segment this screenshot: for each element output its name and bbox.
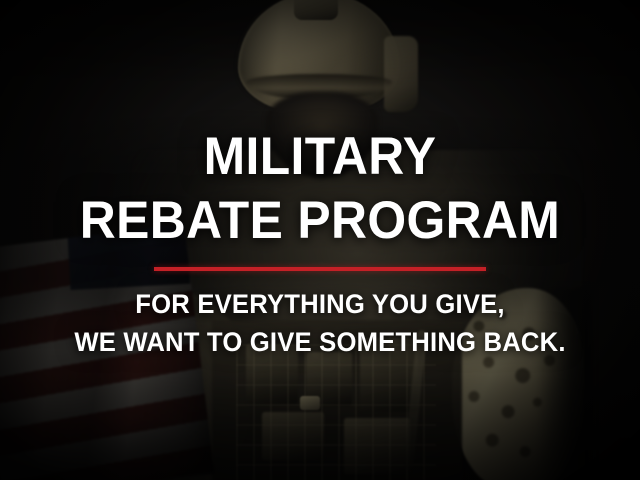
subheadline-line-1: FOR EVERYTHING YOU GIVE, — [16, 291, 624, 318]
headline-line-2: REBATE PROGRAM — [19, 194, 621, 247]
red-divider-rule — [154, 267, 486, 271]
military-rebate-poster: ★ ★ ★ ★ ★ MILITARY REBATE PROGRAM FOR EV… — [0, 0, 640, 480]
subheadline-line-2: WE WANT TO GIVE SOMETHING BACK. — [16, 329, 624, 356]
poster-headline: MILITARY REBATE PROGRAM — [0, 0, 640, 247]
poster-text-overlay: MILITARY REBATE PROGRAM FOR EVERYTHING Y… — [0, 0, 640, 480]
poster-subheadline: FOR EVERYTHING YOU GIVE, WE WANT TO GIVE… — [0, 291, 640, 356]
headline-line-1: MILITARY — [19, 130, 621, 183]
